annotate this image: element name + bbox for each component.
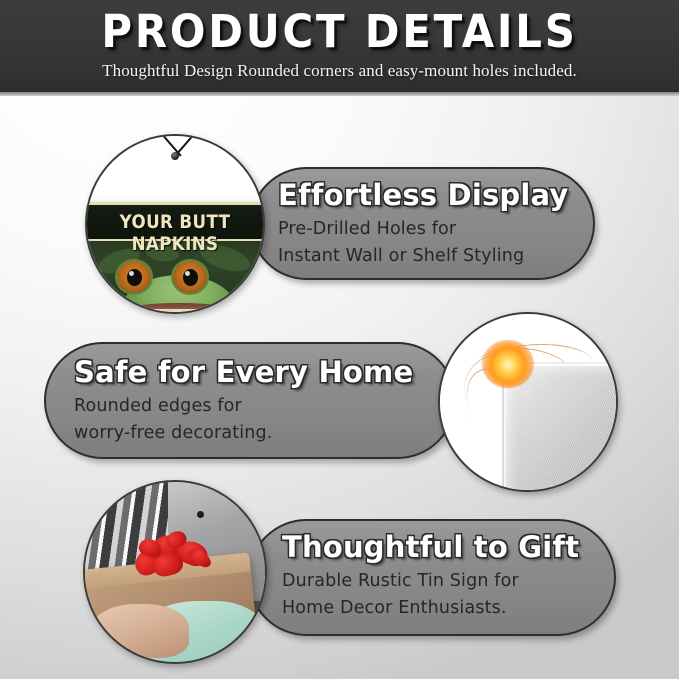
feature-image-gift-box bbox=[83, 480, 267, 664]
feature-callout-safe-for-every-home: Safe for Every Home Rounded edges for wo… bbox=[44, 342, 456, 459]
feature-callout-effortless-display: Effortless Display Pre-Drilled Holes for… bbox=[250, 167, 595, 280]
feature-title-safe-for-every-home: Safe for Every Home bbox=[74, 354, 364, 391]
feature-desc-line1-safe-for-every-home: Rounded edges for bbox=[74, 394, 364, 418]
frog-eye-right bbox=[171, 259, 209, 295]
feature-callout-thoughtful-to-gift: Thoughtful to Gift Durable Rustic Tin Si… bbox=[248, 519, 616, 636]
feature-row-effortless-display: Effortless Display Pre-Drilled Holes for… bbox=[0, 130, 679, 320]
feature-row-thoughtful-to-gift: Thoughtful to Gift Durable Rustic Tin Si… bbox=[0, 473, 679, 669]
feature-row-safe-for-every-home: Safe for Every Home Rounded edges for wo… bbox=[0, 312, 679, 492]
feature-desc-line2-safe-for-every-home: worry-free decorating. bbox=[74, 421, 364, 445]
red-bow bbox=[130, 528, 217, 583]
nail-icon bbox=[171, 152, 179, 160]
feature-image-hanging-frog-sign: YOUR BUTT NAPKINS bbox=[85, 134, 265, 314]
header-banner: PRODUCT DETAILS Thoughtful Design Rounde… bbox=[0, 0, 679, 96]
feature-image-rounded-metal-corner bbox=[438, 312, 618, 492]
feature-desc-line2-thoughtful-to-gift: Home Decor Enthusiasts. bbox=[282, 596, 586, 620]
frog-eye-left bbox=[115, 259, 153, 295]
feature-title-thoughtful-to-gift: Thoughtful to Gift bbox=[282, 529, 586, 566]
frog-mouth bbox=[129, 303, 229, 312]
feature-desc-line1-thoughtful-to-gift: Durable Rustic Tin Sign for bbox=[282, 569, 586, 593]
product-details-infographic: PRODUCT DETAILS Thoughtful Design Rounde… bbox=[0, 0, 679, 679]
feature-desc-line2-effortless-display: Instant Wall or Shelf Styling bbox=[278, 244, 563, 268]
feature-title-effortless-display: Effortless Display bbox=[278, 177, 563, 214]
header-subtitle: Thoughtful Design Rounded corners and ea… bbox=[0, 60, 679, 82]
frog-pupil bbox=[183, 269, 198, 286]
sign-text: YOUR BUTT NAPKINS bbox=[98, 211, 253, 255]
page-title: PRODUCT DETAILS bbox=[24, 7, 655, 57]
shirt-button bbox=[197, 511, 204, 518]
feature-desc-line1-effortless-display: Pre-Drilled Holes for bbox=[278, 217, 563, 241]
hand-bottom bbox=[92, 604, 189, 658]
glow-highlight-icon bbox=[482, 340, 534, 388]
tin-sign: YOUR BUTT NAPKINS bbox=[85, 202, 265, 312]
frog-pupil bbox=[127, 269, 142, 286]
